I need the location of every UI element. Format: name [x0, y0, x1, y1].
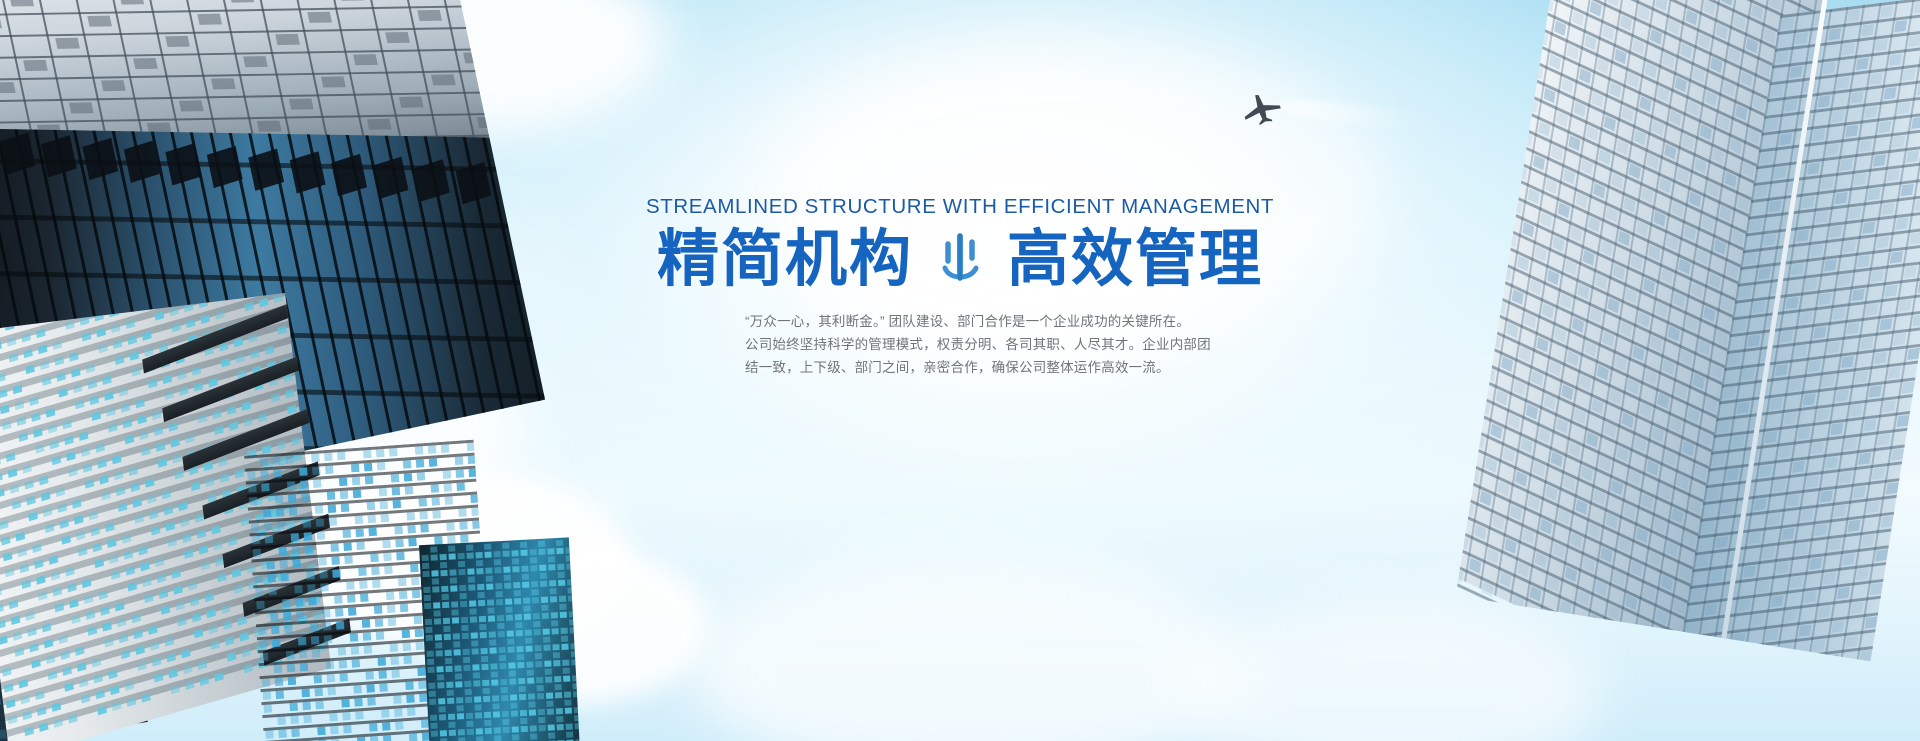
stepped-tower-window: [52, 456, 62, 465]
stepped-tower-window: [206, 609, 216, 618]
blue-tower-window: [290, 716, 299, 725]
stepped-tower-window: [158, 458, 168, 467]
right-tower-glass-panel: [1826, 144, 1839, 156]
teal-tower-window: [454, 649, 461, 655]
stepped-tower-window: [179, 386, 189, 395]
stepped-tower-window: [198, 414, 208, 423]
stepped-tower-window: [51, 571, 61, 580]
blue-tower-window: [324, 453, 333, 462]
right-tower-glass-panel: [1911, 117, 1920, 129]
blue-tower-window: [286, 651, 295, 660]
teal-tower-window: [573, 691, 580, 697]
blue-tower-window: [403, 656, 412, 665]
teal-tower-window: [441, 586, 448, 592]
stepped-tower-window: [276, 441, 286, 450]
teal-tower-window: [424, 603, 431, 609]
teal-tower-window: [527, 669, 534, 675]
right-tower-glass-panel: [1765, 118, 1778, 130]
stepped-tower-window: [122, 534, 132, 543]
teal-tower-window: [447, 698, 454, 704]
right-tower-glass-panel: [1721, 502, 1734, 514]
teal-tower-window: [517, 662, 524, 668]
blue-tower-window: [343, 725, 352, 734]
stepped-tower-window: [46, 655, 56, 664]
teal-tower-window: [468, 576, 475, 582]
blue-tower-window: [374, 605, 383, 614]
blue-tower-window: [289, 703, 298, 712]
stepped-tower-window: [78, 547, 88, 556]
stepped-tower-window: [19, 564, 29, 573]
teal-tower-window: [530, 733, 537, 739]
stepped-tower-window: [155, 558, 165, 567]
teal-tower-window: [475, 552, 482, 558]
teal-tower-window: [489, 639, 496, 645]
right-tower-glass-panel: [1900, 497, 1913, 509]
teal-tower-window: [538, 549, 545, 555]
stepped-tower-window: [35, 444, 45, 453]
teal-tower-window: [503, 567, 510, 573]
right-tower-glass-panel: [1783, 412, 1796, 424]
stepped-tower-window: [200, 561, 210, 570]
right-tower-glass-panel: [1820, 490, 1833, 502]
teal-tower-window: [425, 627, 432, 633]
blue-tower-window: [402, 630, 411, 639]
stepped-tower-window: [18, 432, 28, 441]
teal-tower-window: [469, 608, 476, 614]
teal-tower-window: [494, 567, 501, 573]
right-tower-glass-panel: [1865, 616, 1878, 628]
stepped-tower-window: [0, 488, 5, 497]
blue-tower-window: [379, 683, 388, 692]
right-tower-glass-panel: [1807, 163, 1820, 175]
blue-tower-window: [357, 737, 366, 741]
stepped-tower-window: [8, 468, 18, 477]
teal-tower-window: [459, 585, 466, 591]
teal-tower-window: [519, 686, 526, 692]
teal-tower-window: [514, 598, 521, 604]
blue-tower-window: [316, 518, 325, 527]
right-tower-glass-panel: [1773, 479, 1786, 491]
teal-tower-window: [422, 555, 429, 561]
teal-tower-window: [554, 676, 561, 682]
teal-tower-window: [457, 553, 464, 559]
blue-tower-window: [287, 664, 296, 673]
blue-tower-window: [371, 567, 380, 576]
roof-panel: [339, 0, 364, 1]
stepped-tower-window: [2, 421, 12, 430]
stepped-tower-window: [37, 707, 47, 716]
stepped-tower-window: [84, 595, 94, 604]
stepped-tower-window: [31, 659, 41, 668]
right-tower-glass-panel: [1875, 39, 1888, 51]
blue-tower-window: [273, 469, 282, 478]
blue-tower-window: [272, 639, 281, 648]
blue-tower-window: [358, 567, 367, 576]
teal-tower-window: [525, 630, 532, 636]
teal-tower-window: [495, 583, 502, 589]
teal-tower-window: [520, 542, 527, 548]
teal-tower-window: [520, 550, 527, 556]
stepped-tower-window: [81, 694, 91, 703]
stepped-tower-window: [110, 686, 120, 695]
stepped-tower-window: [125, 681, 135, 690]
stepped-tower-window: [90, 527, 100, 536]
teal-tower-window: [442, 602, 449, 608]
right-tower-glass-panel: [1717, 420, 1730, 432]
teal-tower-window: [476, 728, 483, 734]
facade-fin: [373, 157, 409, 199]
blue-tower-window: [394, 708, 403, 717]
right-tower-glass-panel: [1798, 625, 1811, 637]
teal-tower-window: [427, 651, 434, 657]
teal-tower-window: [430, 546, 437, 552]
teal-tower-window: [478, 592, 485, 598]
blue-tower-window: [252, 536, 261, 545]
teal-tower-window: [487, 607, 494, 613]
blue-tower-window: [472, 520, 481, 529]
right-tower-glass-panel: [1870, 72, 1883, 84]
right-tower-glass-panel: [1894, 530, 1907, 542]
blue-tower-window: [339, 478, 348, 487]
blue-tower-window: [411, 577, 420, 586]
stepped-tower-window: [0, 520, 9, 529]
stepped-tower-window: [54, 603, 64, 612]
teal-tower-window: [539, 725, 546, 731]
teal-tower-window: [547, 548, 554, 554]
blue-tower-window: [379, 488, 388, 497]
stepped-tower-window: [109, 554, 119, 563]
right-tower-glass-panel: [1778, 446, 1791, 458]
right-tower-glass-panel: [1853, 486, 1866, 498]
stepped-tower-window: [138, 546, 148, 555]
stepped-tower-window: [27, 627, 37, 636]
teal-tower-window: [512, 558, 519, 564]
blue-tower-window: [380, 514, 389, 523]
teal-tower-window: [458, 729, 465, 735]
teal-tower-window: [483, 696, 490, 702]
right-tower-glass-panel: [1901, 184, 1914, 196]
stepped-tower-window: [31, 412, 41, 421]
right-tower-glass-panel: [1817, 408, 1830, 420]
teal-tower-window: [500, 679, 507, 685]
teal-tower-window: [455, 673, 462, 679]
teal-tower-window: [479, 624, 486, 630]
blue-tower-window: [279, 547, 288, 556]
right-tower-glass-panel: [1859, 140, 1872, 152]
roof-panel: [385, 32, 410, 43]
right-tower-glass-panel: [1542, 610, 1554, 626]
teal-tower-window: [440, 730, 447, 736]
teal-tower-window: [561, 644, 568, 650]
roof-panel: [353, 54, 378, 65]
right-tower-glass-panel: [1818, 606, 1831, 618]
right-tower-glass-panel: [1821, 177, 1834, 189]
teal-tower-window: [453, 633, 460, 639]
right-tower-glass-panel: [1779, 643, 1792, 655]
teal-tower-window: [473, 672, 480, 678]
teal-tower-window: [429, 691, 436, 697]
stepped-tower-window: [185, 681, 195, 690]
stepped-tower-window: [95, 443, 105, 452]
teal-tower-window: [534, 645, 541, 651]
stepped-tower-window: [34, 559, 44, 568]
right-tower-glass-panel: [1743, 565, 1756, 577]
stepped-tower-window: [38, 591, 48, 600]
right-tower-glass-panel: [1765, 629, 1778, 641]
blue-tower-window: [382, 722, 391, 731]
stepped-tower-window: [173, 585, 183, 594]
right-tower-glass-panel: [1806, 475, 1819, 487]
right-tower-glass-panel: [1836, 389, 1849, 401]
stepped-tower-window: [13, 385, 23, 394]
teal-tower-window: [539, 565, 546, 571]
teal-tower-window: [483, 688, 490, 694]
teal-tower-window: [556, 708, 563, 714]
blue-tower-window: [391, 474, 400, 483]
roof-panel: [289, 98, 314, 109]
teal-tower-window: [512, 566, 519, 572]
teal-tower-window: [448, 545, 455, 551]
right-tower-glass-panel: [1814, 524, 1827, 536]
right-tower-glass-panel: [1845, 635, 1858, 647]
stepped-tower-window: [137, 661, 147, 670]
blue-tower-window: [444, 483, 453, 492]
teal-tower-window: [505, 606, 512, 612]
blue-tower-window: [299, 467, 308, 476]
stepped-tower-window: [115, 602, 125, 611]
blue-tower-window: [414, 616, 423, 625]
teal-tower-window: [543, 645, 550, 651]
teal-tower-window: [565, 708, 572, 714]
stepped-tower-window: [55, 488, 65, 497]
right-tower-glass-panel: [1837, 587, 1850, 599]
teal-tower-window: [533, 613, 540, 619]
blue-tower-window: [372, 580, 381, 589]
right-tower-glass-panel: [1903, 68, 1916, 80]
teal-tower-window: [519, 694, 526, 700]
blue-tower-window: [268, 587, 277, 596]
teal-tower-window: [430, 715, 437, 721]
teal-tower-window: [536, 677, 543, 683]
blue-tower-window: [278, 729, 287, 738]
stepped-tower-window: [48, 424, 58, 433]
blue-tower-window: [302, 689, 311, 698]
teal-tower-window: [566, 731, 573, 737]
blue-tower-window: [260, 470, 269, 479]
stepped-tower-window: [116, 487, 126, 496]
stepped-tower-window: [69, 599, 79, 608]
stepped-tower-window: [198, 661, 208, 670]
blue-tower-window: [381, 709, 390, 718]
blue-tower-window: [355, 516, 364, 525]
blue-tower-window: [346, 581, 355, 590]
blue-tower-window: [444, 496, 453, 505]
stepped-tower-window: [65, 567, 75, 576]
stepped-tower-window: [89, 396, 99, 405]
teal-tower-window: [450, 585, 457, 591]
right-tower-glass-panel: [1771, 595, 1784, 607]
blue-tower-window: [315, 505, 324, 514]
blue-tower-window: [441, 444, 450, 453]
stepped-tower-window: [171, 569, 181, 578]
teal-tower-window: [529, 549, 536, 555]
banner-description: “万众一心，其利断金。” 团队建设、部门合作是一个企业成功的关键所在。 公司始终…: [745, 310, 1175, 380]
stepped-tower-window: [61, 535, 71, 544]
stepped-tower-window: [152, 657, 162, 666]
right-tower-glass-panel: [1889, 564, 1902, 576]
right-tower-glass-panel: [1872, 467, 1885, 479]
blue-tower-window: [415, 446, 424, 455]
stepped-tower-window: [86, 610, 96, 619]
right-tower-glass-panel: [1861, 24, 1874, 36]
teal-tower-window: [471, 640, 478, 646]
blue-tower-window: [407, 525, 416, 534]
teal-tower-window: [550, 596, 557, 602]
stepped-tower-window: [175, 601, 185, 610]
blue-tower-window: [351, 646, 360, 655]
blue-tower-window: [431, 484, 440, 493]
cloud-right-low: [1180, 600, 1600, 741]
stepped-tower-window: [151, 526, 161, 535]
stepped-tower-window: [232, 569, 242, 578]
teal-tower-window: [476, 560, 483, 566]
teal-tower-window: [538, 717, 545, 723]
blue-tower-window: [270, 613, 279, 622]
right-tower-glass-panel: [1705, 603, 1718, 615]
right-tower-glass-panel: [1908, 35, 1920, 47]
stepped-tower-window: [39, 722, 49, 731]
stepped-tower-window: [218, 457, 228, 466]
teal-tower-window: [533, 621, 540, 627]
stepped-tower-window: [20, 695, 30, 704]
right-tower-glass-panel: [1867, 501, 1880, 513]
roof-panel: [463, 52, 488, 63]
teal-tower-window: [548, 732, 555, 738]
stepped-tower-window: [17, 548, 27, 557]
facade-fin: [82, 138, 118, 180]
teal-tower-window: [442, 594, 449, 600]
blue-tower-window: [328, 504, 337, 513]
teal-tower-window: [517, 654, 524, 660]
blue-tower-window: [317, 727, 326, 736]
teal-tower-window: [491, 679, 498, 685]
teal-tower-window: [484, 712, 491, 718]
roof-panel: [243, 56, 268, 67]
stepped-tower-window: [170, 685, 180, 694]
teal-tower-window: [472, 664, 479, 670]
blue-tower-window: [300, 663, 309, 672]
stepped-tower-window: [177, 617, 187, 626]
stepped-tower-window: [131, 614, 141, 623]
teal-tower-window: [434, 618, 441, 624]
right-tower-glass-panel: [1894, 20, 1907, 32]
blue-tower-window: [313, 479, 322, 488]
stepped-tower-window: [60, 651, 70, 660]
blue-tower-window: [323, 622, 332, 631]
stepped-tower-window: [0, 604, 4, 613]
blue-tower-window: [247, 471, 256, 480]
blue-tower-window: [329, 517, 338, 526]
right-tower-glass-panel: [1875, 549, 1888, 561]
headline-right-phrase: 高效管理: [1007, 225, 1263, 294]
stepped-tower-window: [166, 653, 176, 662]
teal-tower-window: [486, 575, 493, 581]
teal-tower-window: [463, 665, 470, 671]
teal-tower-window: [523, 606, 530, 612]
stepped-tower-window: [81, 447, 91, 456]
stepped-tower-window: [68, 714, 78, 723]
blue-tower-window: [363, 450, 372, 459]
right-tower-glass-panel: [1878, 121, 1891, 133]
stepped-tower-window: [271, 393, 281, 402]
blue-tower-window: [407, 707, 416, 716]
teal-tower-window: [518, 678, 525, 684]
blue-tower-window: [456, 469, 465, 478]
stepped-tower-window: [43, 508, 53, 517]
blue-tower-window: [376, 631, 385, 640]
right-tower-glass-panel: [1870, 583, 1883, 595]
blue-tower-window: [432, 510, 441, 519]
right-tower-glass-panel: [1817, 95, 1830, 107]
blue-tower-window: [344, 555, 353, 564]
blue-tower-window: [320, 583, 329, 592]
blue-tower-window: [254, 575, 263, 584]
blue-tower-window: [395, 721, 404, 730]
sprout-divider-icon: [931, 228, 989, 290]
teal-tower-window: [497, 615, 504, 621]
teal-tower-window: [564, 692, 571, 698]
roof-panel: [0, 18, 2, 29]
right-tower-glass-panel: [1701, 521, 1714, 533]
teal-tower-window: [571, 659, 578, 665]
right-tower-glass-panel: [1850, 404, 1863, 416]
blue-tower-window: [352, 659, 361, 668]
teal-tower-window: [481, 664, 488, 670]
teal-tower-window: [474, 704, 481, 710]
teal-tower-window: [451, 609, 458, 615]
blue-tower-window: [459, 521, 468, 530]
teal-tower-window: [532, 597, 539, 603]
teal-tower-window: [480, 632, 487, 638]
roof-panel: [133, 58, 158, 69]
stepped-tower-window: [225, 636, 235, 645]
teal-tower-window: [559, 604, 566, 610]
teal-tower-window: [445, 666, 452, 672]
stepped-tower-window: [159, 590, 169, 599]
teal-tower-window: [423, 587, 430, 593]
teal-tower-window: [540, 581, 547, 587]
right-tower-glass-panel: [1916, 396, 1920, 408]
blue-tower-window: [322, 609, 331, 618]
teal-tower-window: [481, 656, 488, 662]
right-tower-glass-panel: [1715, 536, 1728, 548]
blue-tower-window: [251, 523, 260, 532]
teal-tower-window: [484, 544, 491, 550]
blue-tower-window: [365, 476, 374, 485]
teal-tower-window: [515, 614, 522, 620]
blue-tower-window: [404, 473, 413, 482]
right-tower-glass-panel: [1889, 54, 1902, 66]
stepped-tower-window: [119, 634, 129, 643]
right-tower-glass-panel: [1877, 434, 1890, 446]
blue-tower-window: [288, 494, 297, 503]
blue-tower-window: [287, 481, 296, 490]
blue-tower-window: [337, 452, 346, 461]
blue-tower-window: [341, 504, 350, 513]
blue-tower-window: [356, 542, 365, 551]
stepped-tower-window: [194, 629, 204, 638]
teal-tower-window: [443, 626, 450, 632]
